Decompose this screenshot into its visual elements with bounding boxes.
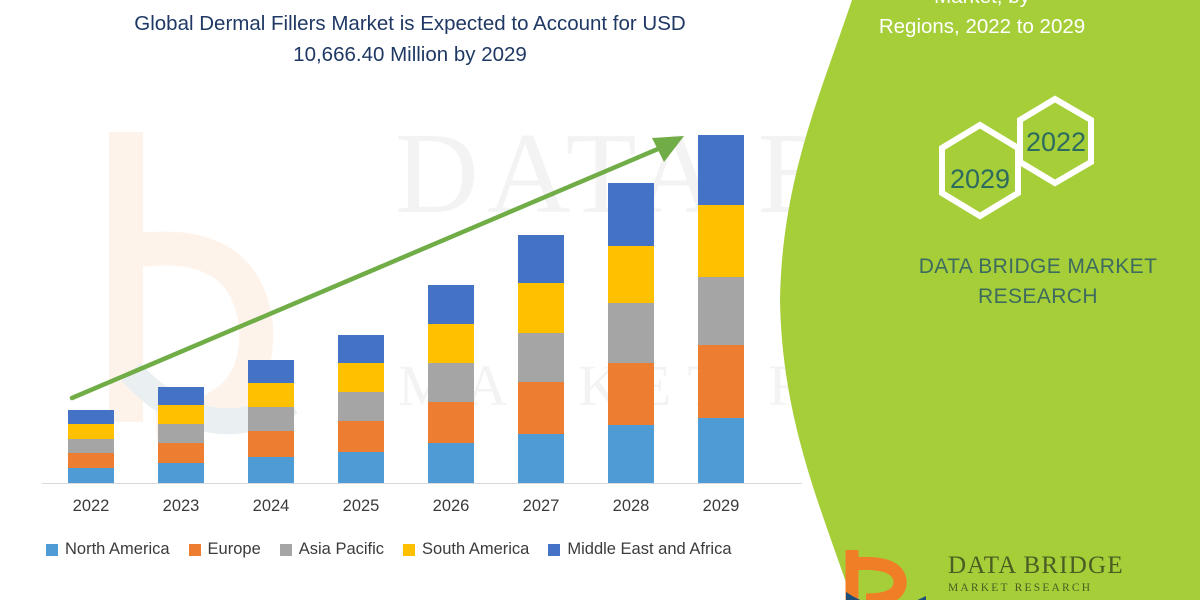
bar-segment-middle-east-and-africa bbox=[68, 410, 114, 424]
bar-segment-middle-east-and-africa bbox=[608, 183, 654, 246]
x-axis-label-2023: 2023 bbox=[136, 497, 226, 516]
bar-segment-north-america bbox=[428, 443, 474, 483]
panel-heading-line2: Regions, 2022 to 2029 bbox=[780, 12, 1184, 42]
legend-swatch-icon bbox=[548, 544, 560, 556]
legend-item-europe[interactable]: Europe bbox=[189, 540, 261, 559]
legend-swatch-icon bbox=[403, 544, 415, 556]
bar-segment-asia-pacific bbox=[158, 424, 204, 443]
hexagon-2029-label: 2029 bbox=[950, 164, 1010, 194]
bar-segment-middle-east-and-africa bbox=[248, 360, 294, 383]
bar-segment-north-america bbox=[158, 463, 204, 483]
chart-legend: North AmericaEuropeAsia PacificSouth Ame… bbox=[46, 540, 806, 559]
bar-2024[interactable] bbox=[248, 360, 294, 483]
bar-segment-north-america bbox=[248, 457, 294, 483]
bar-segment-europe bbox=[248, 431, 294, 457]
legend-label: Middle East and Africa bbox=[567, 540, 731, 559]
bar-segment-asia-pacific bbox=[248, 407, 294, 431]
bar-segment-europe bbox=[518, 382, 564, 434]
legend-item-north-america[interactable]: North America bbox=[46, 540, 170, 559]
bar-segment-europe bbox=[608, 363, 654, 425]
bar-2029[interactable] bbox=[698, 135, 744, 483]
bar-segment-europe bbox=[158, 443, 204, 463]
brand-panel: Market, by Regions, 2022 to 2029 2029 20… bbox=[780, 0, 1200, 600]
bar-2025[interactable] bbox=[338, 335, 384, 483]
legend-label: Europe bbox=[208, 540, 261, 559]
stacked-bar-chart: 20222023202420252026202720282029 bbox=[0, 0, 820, 600]
x-axis-label-2025: 2025 bbox=[316, 497, 406, 516]
x-axis-label-2024: 2024 bbox=[226, 497, 316, 516]
bar-segment-asia-pacific bbox=[608, 303, 654, 363]
bar-segment-asia-pacific bbox=[698, 277, 744, 345]
hexagon-badge-group-icon: 2029 2022 bbox=[920, 88, 1120, 228]
bar-segment-europe bbox=[338, 421, 384, 452]
data-bridge-mark-icon bbox=[840, 548, 936, 600]
bar-segment-south-america bbox=[248, 383, 294, 407]
bar-segment-north-america bbox=[608, 425, 654, 483]
bar-segment-south-america bbox=[68, 424, 114, 439]
bar-segment-middle-east-and-africa bbox=[158, 387, 204, 405]
bar-segment-europe bbox=[698, 345, 744, 418]
legend-label: Asia Pacific bbox=[299, 540, 384, 559]
infographic-root: DATA BRIDGE MARKET RESEARCH Market, by R… bbox=[0, 0, 1200, 600]
legend-item-asia-pacific[interactable]: Asia Pacific bbox=[280, 540, 384, 559]
legend-item-middle-east-and-africa[interactable]: Middle East and Africa bbox=[548, 540, 731, 559]
logo-tagline: MARKET RESEARCH bbox=[948, 582, 1092, 594]
brand-line-1: DATA BRIDGE MARKET bbox=[919, 255, 1158, 278]
bar-2027[interactable] bbox=[518, 235, 564, 483]
bar-segment-south-america bbox=[338, 363, 384, 392]
bar-segment-middle-east-and-africa bbox=[338, 335, 384, 363]
bar-2022[interactable] bbox=[68, 410, 114, 483]
x-axis-label-2028: 2028 bbox=[586, 497, 676, 516]
brand-name-text: DATA BRIDGE MARKET RESEARCH bbox=[876, 252, 1200, 312]
bar-segment-south-america bbox=[158, 405, 204, 424]
bar-segment-north-america bbox=[518, 434, 564, 483]
bar-segment-south-america bbox=[428, 324, 474, 363]
bar-segment-middle-east-and-africa bbox=[428, 285, 474, 324]
bar-segment-asia-pacific bbox=[428, 363, 474, 402]
bar-segment-asia-pacific bbox=[338, 392, 384, 421]
bar-2026[interactable] bbox=[428, 285, 474, 483]
legend-swatch-icon bbox=[280, 544, 292, 556]
panel-heading: Market, by Regions, 2022 to 2029 bbox=[780, 0, 1184, 42]
bar-segment-south-america bbox=[698, 205, 744, 277]
hexagon-badges: 2029 2022 bbox=[920, 88, 1120, 228]
x-axis-label-2027: 2027 bbox=[496, 497, 586, 516]
x-axis-label-2029: 2029 bbox=[676, 497, 766, 516]
bar-segment-north-america bbox=[68, 468, 114, 483]
bar-segment-south-america bbox=[608, 246, 654, 303]
brand-line-2: RESEARCH bbox=[876, 282, 1200, 312]
bar-segment-asia-pacific bbox=[518, 333, 564, 382]
legend-label: South America bbox=[422, 540, 529, 559]
bar-segment-middle-east-and-africa bbox=[698, 135, 744, 205]
bar-segment-south-america bbox=[518, 283, 564, 333]
bar-segment-europe bbox=[428, 402, 474, 443]
bar-segment-north-america bbox=[338, 452, 384, 483]
legend-label: North America bbox=[65, 540, 170, 559]
company-logo: DATA BRIDGE MARKET RESEARCH bbox=[840, 548, 1190, 600]
bar-segment-europe bbox=[68, 453, 114, 468]
bar-segment-middle-east-and-africa bbox=[518, 235, 564, 283]
legend-swatch-icon bbox=[189, 544, 201, 556]
bar-2023[interactable] bbox=[158, 387, 204, 483]
bar-segment-asia-pacific bbox=[68, 439, 114, 453]
hexagon-2022-label: 2022 bbox=[1026, 127, 1086, 157]
x-axis-label-2022: 2022 bbox=[46, 497, 136, 516]
bar-segment-north-america bbox=[698, 418, 744, 483]
x-axis-label-2026: 2026 bbox=[406, 497, 496, 516]
panel-heading-line1: Market, by bbox=[780, 0, 1184, 12]
legend-swatch-icon bbox=[46, 544, 58, 556]
bar-2028[interactable] bbox=[608, 183, 654, 483]
logo-name: DATA BRIDGE bbox=[948, 552, 1124, 580]
legend-item-south-america[interactable]: South America bbox=[403, 540, 529, 559]
